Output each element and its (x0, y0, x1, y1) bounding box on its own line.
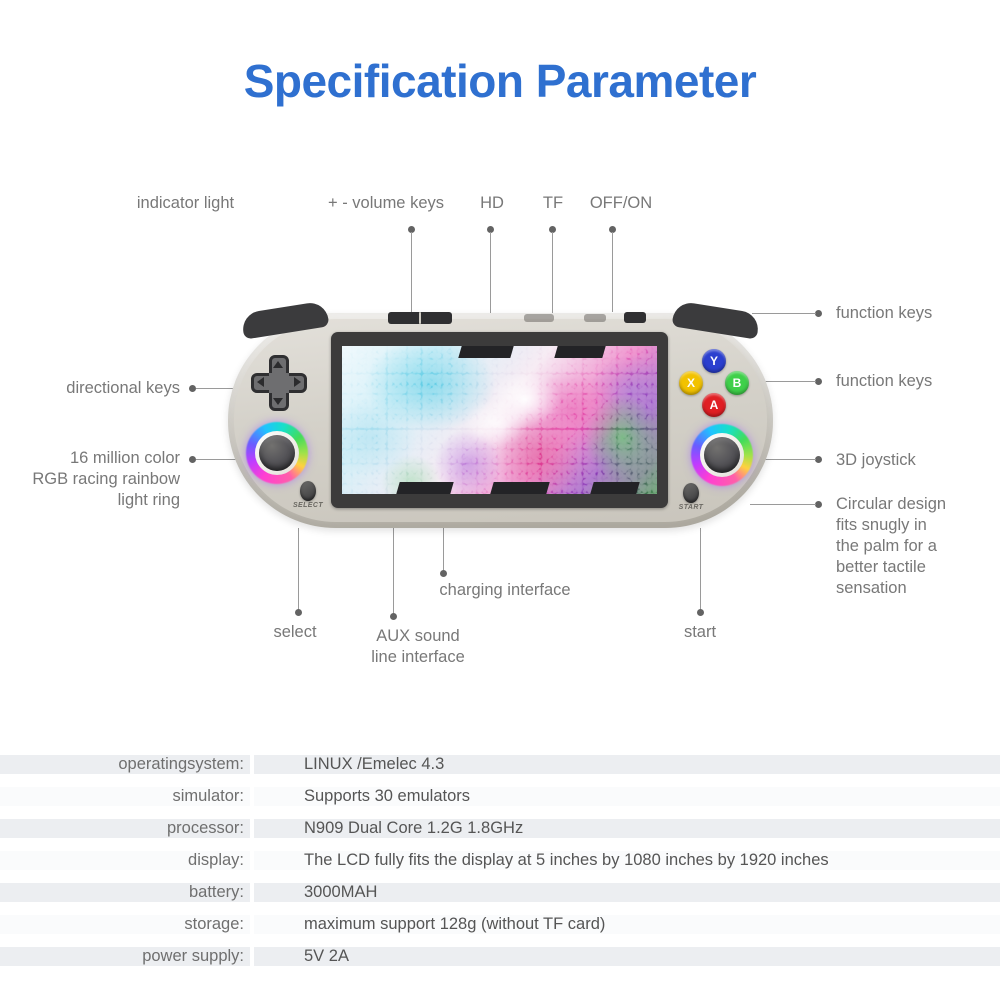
leader-dot-function-keys-face (815, 378, 822, 385)
face-button-a[interactable]: A (702, 393, 726, 417)
leader-line-volume-keys (411, 232, 412, 312)
dpad-left-arrow-icon (257, 377, 264, 387)
leader-line-hd (490, 232, 491, 316)
leader-line-start (700, 528, 701, 612)
spec-label: battery: (0, 883, 250, 902)
leader-dot-directional-keys (189, 385, 196, 392)
table-row: battery:3000MAH (0, 876, 1000, 908)
dpad-down-arrow-icon (273, 398, 283, 405)
screen-band (554, 346, 605, 358)
leader-line-off-on (612, 232, 613, 312)
select-button-pill (300, 481, 316, 501)
spec-value: 3000MAH (254, 883, 1000, 902)
leader-dot-select (295, 609, 302, 616)
spec-value: N909 Dual Core 1.2G 1.8GHz (254, 819, 1000, 838)
spec-label: operatingsystem: (0, 755, 250, 774)
product-diagram: indicator light + - volume keys HD TF OF… (0, 0, 1000, 720)
leader-dot-rgb-light-ring (189, 456, 196, 463)
tf-card-slot[interactable] (584, 314, 606, 322)
screen-bezel (331, 332, 668, 508)
screen-band (458, 346, 513, 358)
start-button[interactable]: START (683, 483, 699, 503)
table-row: power supply:5V 2A (0, 940, 1000, 972)
callout-indicator-light: indicator light (118, 193, 253, 214)
callout-function-keys-top: function keys (836, 303, 996, 324)
callout-tf: TF (534, 193, 572, 214)
handheld-console: Y X B A SELECT START (228, 305, 773, 530)
spec-value: The LCD fully fits the display at 5 inch… (254, 851, 1000, 870)
leader-line-select (298, 528, 299, 612)
start-button-pill (683, 483, 699, 503)
callout-function-keys-face: function keys (836, 371, 996, 392)
specification-table: operatingsystem:LINUX /Emelec 4.3simulat… (0, 748, 1000, 972)
joystick-right[interactable] (691, 424, 753, 486)
spec-value: 5V 2A (254, 947, 1000, 966)
face-button-b[interactable]: B (725, 371, 749, 395)
spec-value: LINUX /Emelec 4.3 (254, 755, 1000, 774)
screen-band (590, 482, 639, 494)
table-row: display:The LCD fully fits the display a… (0, 844, 1000, 876)
leader-dot-start (697, 609, 704, 616)
leader-line-charging (443, 528, 444, 573)
face-button-cluster: Y X B A (679, 349, 749, 419)
spec-label: display: (0, 851, 250, 870)
select-button-caption: SELECT (291, 502, 325, 509)
power-switch[interactable] (624, 312, 646, 323)
directional-pad[interactable] (251, 355, 307, 411)
table-row: simulator:Supports 30 emulators (0, 780, 1000, 812)
screen-band (490, 482, 549, 494)
leader-dot-aux (390, 613, 397, 620)
face-button-x[interactable]: X (679, 371, 703, 395)
callout-hd: HD (472, 193, 512, 214)
table-row: processor:N909 Dual Core 1.2G 1.8GHz (0, 812, 1000, 844)
hd-port[interactable] (524, 314, 554, 322)
callout-circular-design: Circular design fits snugly in the palm … (836, 494, 992, 600)
callout-rgb-light-ring: 16 million color RGB racing rainbow ligh… (0, 448, 180, 511)
dpad-hub (269, 373, 289, 393)
screen-band (396, 482, 453, 494)
select-button[interactable]: SELECT (300, 481, 316, 501)
spec-label: simulator: (0, 787, 250, 806)
start-button-caption: START (674, 504, 708, 511)
spec-label: storage: (0, 915, 250, 934)
table-row: storage:maximum support 128g (without TF… (0, 908, 1000, 940)
leader-line-aux (393, 528, 394, 616)
leader-dot-3d-joystick (815, 456, 822, 463)
spec-value: maximum support 128g (without TF card) (254, 915, 1000, 934)
leader-dot-function-keys-top (815, 310, 822, 317)
joystick-left[interactable] (246, 422, 308, 484)
face-button-y[interactable]: Y (702, 349, 726, 373)
dpad-up-arrow-icon (273, 361, 283, 368)
display-screen[interactable] (342, 346, 657, 494)
callout-off-on: OFF/ON (576, 193, 666, 214)
spec-value: Supports 30 emulators (254, 787, 1000, 806)
callout-aux-sound-line-interface: AUX sound line interface (340, 626, 496, 668)
joystick-cap-left[interactable] (259, 435, 295, 471)
callout-directional-keys: directional keys (0, 378, 180, 399)
callout-start: start (650, 622, 750, 643)
callout-charging-interface: charging interface (405, 580, 605, 601)
joystick-cap-right[interactable] (704, 437, 740, 473)
spec-label: power supply: (0, 947, 250, 966)
leader-dot-circular-design (815, 501, 822, 508)
callout-volume-keys: + - volume keys (308, 193, 464, 214)
leader-dot-charging (440, 570, 447, 577)
callout-select: select (240, 622, 350, 643)
volume-keys-divider (419, 312, 421, 324)
callout-3d-joystick: 3D joystick (836, 450, 996, 471)
table-row: operatingsystem:LINUX /Emelec 4.3 (0, 748, 1000, 780)
spec-label: processor: (0, 819, 250, 838)
leader-line-tf (552, 232, 553, 316)
dpad-right-arrow-icon (294, 377, 301, 387)
